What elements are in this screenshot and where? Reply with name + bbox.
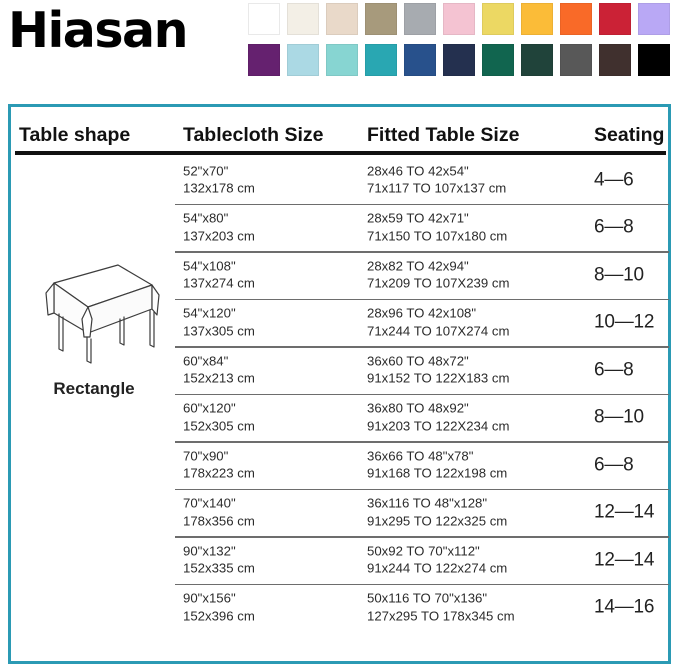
cloth-size-inches: 52"x70" xyxy=(183,162,255,180)
cell-fitted-table-size: 36x66 TO 48"x78" 91x168 TO 122x198 cm xyxy=(367,447,507,482)
cell-fitted-table-size: 28x59 TO 42x71" 71x150 TO 107x180 cm xyxy=(367,210,507,245)
cell-seating: 10—12 xyxy=(594,314,654,332)
swatch-navy[interactable] xyxy=(443,44,475,76)
table-row: 54"x120" 137x305 cm 28x96 TO 42x108" 71x… xyxy=(11,299,668,347)
swatch-light-blue[interactable] xyxy=(287,44,319,76)
cell-seating: 12—14 xyxy=(594,504,654,522)
cell-tablecloth-size: 54"x120" 137x305 cm xyxy=(183,305,255,340)
cell-seating: 12—14 xyxy=(594,551,654,569)
cell-seating: 4—6 xyxy=(594,171,634,189)
fit-size-inches: 36x80 TO 48x92" xyxy=(367,400,509,418)
swatch-beige[interactable] xyxy=(326,3,358,35)
cell-tablecloth-size: 70"x90" 178x223 cm xyxy=(183,447,255,482)
fit-size-cm: 91x295 TO 122x325 cm xyxy=(367,512,507,530)
cloth-size-inches: 90"x132" xyxy=(183,542,255,560)
fit-size-inches: 28x96 TO 42x108" xyxy=(367,305,509,323)
fit-size-cm: 127x295 TO 178x345 cm xyxy=(367,607,515,625)
cloth-size-cm: 152x213 cm xyxy=(183,370,255,388)
cell-seating: 6—8 xyxy=(594,456,634,474)
cloth-size-inches: 60"x120" xyxy=(183,400,255,418)
swatch-taupe[interactable] xyxy=(365,3,397,35)
header-divider xyxy=(15,151,666,155)
swatch-grey[interactable] xyxy=(404,3,436,35)
swatch-aqua[interactable] xyxy=(326,44,358,76)
cell-fitted-table-size: 28x46 TO 42x54" 71x117 TO 107x137 cm xyxy=(367,162,506,197)
cloth-size-inches: 90"x156" xyxy=(183,590,255,608)
swatch-purple[interactable] xyxy=(248,44,280,76)
fit-size-cm: 91x168 TO 122x198 cm xyxy=(367,465,507,483)
cell-seating: 6—8 xyxy=(594,361,634,379)
swatch-lavender[interactable] xyxy=(638,3,670,35)
fit-size-cm: 71x244 TO 107X274 cm xyxy=(367,322,509,340)
cell-tablecloth-size: 54"x108" 137x274 cm xyxy=(183,257,255,292)
cell-tablecloth-size: 54"x80" 137x203 cm xyxy=(183,210,255,245)
fit-size-cm: 71x150 TO 107x180 cm xyxy=(367,227,507,245)
cloth-size-cm: 137x305 cm xyxy=(183,322,255,340)
fit-size-inches: 28x46 TO 42x54" xyxy=(367,162,506,180)
cell-fitted-table-size: 28x96 TO 42x108" 71x244 TO 107X274 cm xyxy=(367,305,509,340)
swatch-dark-brown[interactable] xyxy=(599,44,631,76)
swatch-pink[interactable] xyxy=(443,3,475,35)
swatch-orange[interactable] xyxy=(560,3,592,35)
swatch-hunter-green[interactable] xyxy=(521,44,553,76)
table-body: 52"x70" 132x178 cm 28x46 TO 42x54" 71x11… xyxy=(11,156,668,661)
brand-header: Hiasan xyxy=(0,0,679,90)
fit-size-inches: 50x92 TO 70"x112" xyxy=(367,542,507,560)
swatch-gold[interactable] xyxy=(521,3,553,35)
cloth-size-inches: 70"x90" xyxy=(183,447,255,465)
table-row: 60"x84" 152x213 cm 36x60 TO 48x72" 91x15… xyxy=(11,346,668,394)
cell-tablecloth-size: 90"x132" 152x335 cm xyxy=(183,542,255,577)
column-header-fitted-size: Fitted Table Size xyxy=(367,124,519,147)
cell-seating: 14—16 xyxy=(594,599,654,617)
swatch-ivory[interactable] xyxy=(287,3,319,35)
size-chart-card: Table shape Tablecloth Size Fitted Table… xyxy=(8,104,671,664)
color-swatch-row-2 xyxy=(248,44,670,76)
cloth-size-cm: 178x223 cm xyxy=(183,465,255,483)
fit-size-cm: 91x244 TO 122x274 cm xyxy=(367,560,507,578)
fit-size-cm: 91x203 TO 122X234 cm xyxy=(367,417,509,435)
swatch-teal[interactable] xyxy=(365,44,397,76)
cell-tablecloth-size: 70"x140" 178x356 cm xyxy=(183,495,255,530)
swatch-black[interactable] xyxy=(638,44,670,76)
swatch-red[interactable] xyxy=(599,3,631,35)
cloth-size-cm: 137x274 cm xyxy=(183,275,255,293)
brand-logo: Hiasan xyxy=(8,6,187,55)
fit-size-inches: 36x116 TO 48"x128" xyxy=(367,495,507,513)
table-row: 90"x156" 152x396 cm 50x116 TO 70"x136" 1… xyxy=(11,584,668,632)
column-header-tablecloth-size: Tablecloth Size xyxy=(183,124,324,147)
cell-tablecloth-size: 60"x120" 152x305 cm xyxy=(183,400,255,435)
cloth-size-cm: 152x396 cm xyxy=(183,607,255,625)
table-row: 54"x108" 137x274 cm 28x82 TO 42x94" 71x2… xyxy=(11,251,668,299)
cell-fitted-table-size: 36x116 TO 48"x128" 91x295 TO 122x325 cm xyxy=(367,495,507,530)
cloth-size-inches: 54"x120" xyxy=(183,305,255,323)
column-header-seating: Seating xyxy=(594,124,664,147)
cell-fitted-table-size: 28x82 TO 42x94" 71x209 TO 107X239 cm xyxy=(367,257,509,292)
table-row: 52"x70" 132x178 cm 28x46 TO 42x54" 71x11… xyxy=(11,156,668,204)
cloth-size-cm: 178x356 cm xyxy=(183,512,255,530)
cell-tablecloth-size: 52"x70" 132x178 cm xyxy=(183,162,255,197)
table-row: 54"x80" 137x203 cm 28x59 TO 42x71" 71x15… xyxy=(11,204,668,252)
cell-tablecloth-size: 90"x156" 152x396 cm xyxy=(183,590,255,625)
table-row: 70"x90" 178x223 cm 36x66 TO 48"x78" 91x1… xyxy=(11,441,668,489)
table-row: 60"x120" 152x305 cm 36x80 TO 48x92" 91x2… xyxy=(11,394,668,442)
cell-seating: 6—8 xyxy=(594,219,634,237)
cell-fitted-table-size: 50x116 TO 70"x136" 127x295 TO 178x345 cm xyxy=(367,590,515,625)
fit-size-inches: 36x60 TO 48x72" xyxy=(367,352,509,370)
cell-fitted-table-size: 36x80 TO 48x92" 91x203 TO 122X234 cm xyxy=(367,400,509,435)
fit-size-inches: 50x116 TO 70"x136" xyxy=(367,590,515,608)
cell-seating: 8—10 xyxy=(594,266,644,284)
swatch-emerald[interactable] xyxy=(482,44,514,76)
cloth-size-cm: 152x335 cm xyxy=(183,560,255,578)
fit-size-cm: 91x152 TO 122X183 cm xyxy=(367,370,509,388)
color-swatch-row-1 xyxy=(248,3,670,35)
cloth-size-inches: 70"x140" xyxy=(183,495,255,513)
cell-tablecloth-size: 60"x84" 152x213 cm xyxy=(183,352,255,387)
swatch-white[interactable] xyxy=(248,3,280,35)
table-header-row: Table shape Tablecloth Size Fitted Table… xyxy=(11,107,668,151)
swatch-yellow[interactable] xyxy=(482,3,514,35)
fit-size-inches: 28x82 TO 42x94" xyxy=(367,257,509,275)
table-row: 90"x132" 152x335 cm 50x92 TO 70"x112" 91… xyxy=(11,536,668,584)
column-header-table-shape: Table shape xyxy=(19,124,130,147)
cloth-size-inches: 60"x84" xyxy=(183,352,255,370)
cloth-size-cm: 132x178 cm xyxy=(183,180,255,198)
swatch-denim-blue[interactable] xyxy=(404,44,436,76)
cloth-size-cm: 137x203 cm xyxy=(183,227,255,245)
table-row: 70"x140" 178x356 cm 36x116 TO 48"x128" 9… xyxy=(11,489,668,537)
cloth-size-inches: 54"x108" xyxy=(183,257,255,275)
cell-fitted-table-size: 50x92 TO 70"x112" 91x244 TO 122x274 cm xyxy=(367,542,507,577)
size-chart-table: Table shape Tablecloth Size Fitted Table… xyxy=(11,107,668,661)
cloth-size-cm: 152x305 cm xyxy=(183,417,255,435)
cloth-size-inches: 54"x80" xyxy=(183,210,255,228)
color-swatch-grid xyxy=(248,3,670,76)
cell-fitted-table-size: 36x60 TO 48x72" 91x152 TO 122X183 cm xyxy=(367,352,509,387)
fit-size-cm: 71x209 TO 107X239 cm xyxy=(367,275,509,293)
fit-size-inches: 36x66 TO 48"x78" xyxy=(367,447,507,465)
cell-seating: 8—10 xyxy=(594,409,644,427)
fit-size-cm: 71x117 TO 107x137 cm xyxy=(367,180,506,198)
fit-size-inches: 28x59 TO 42x71" xyxy=(367,210,507,228)
swatch-charcoal-grey[interactable] xyxy=(560,44,592,76)
